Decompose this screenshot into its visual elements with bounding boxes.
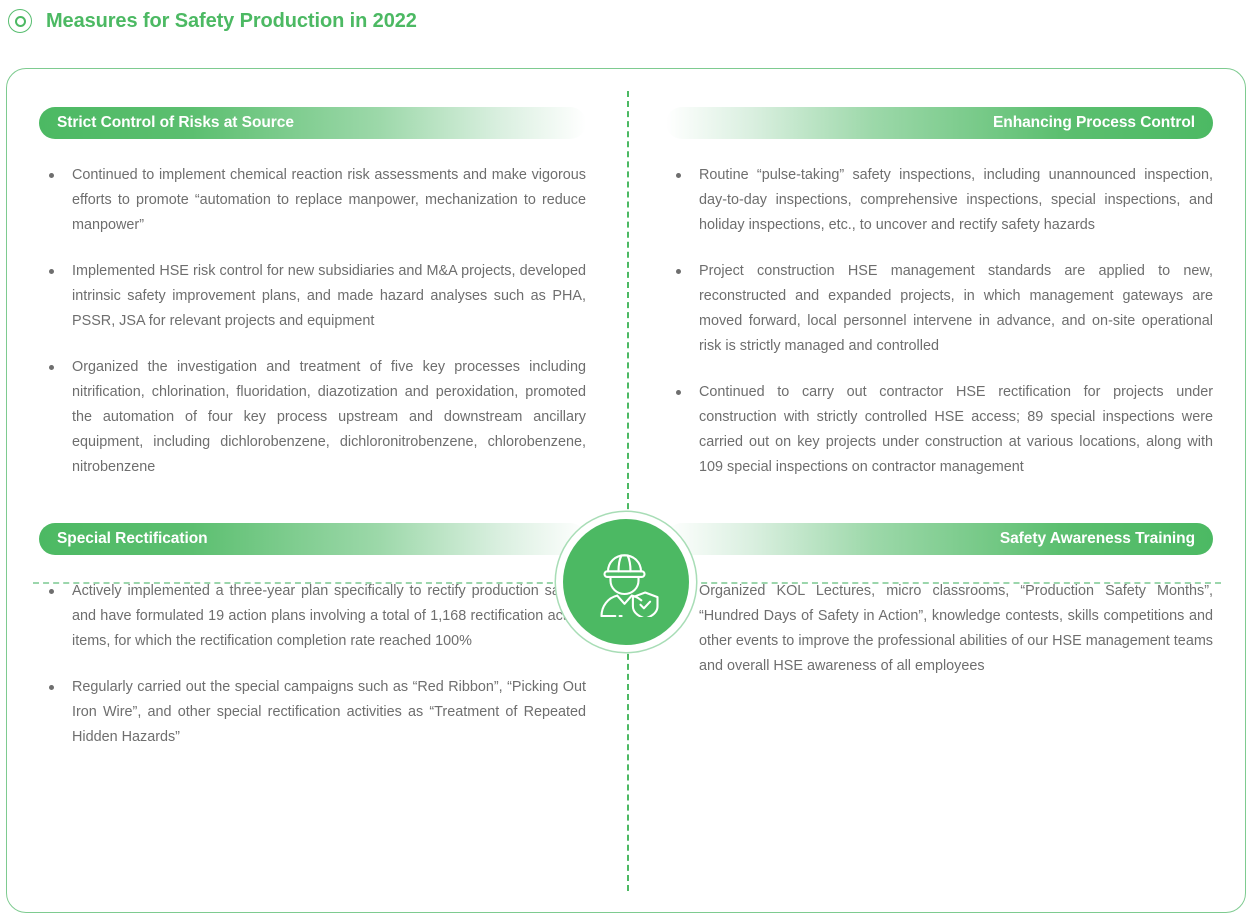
section-special-rectification: Special Rectification Actively implement… [7, 491, 626, 913]
list-item: Actively implemented a three-year plan s… [39, 579, 586, 654]
sections-grid: Strict Control of Risks at Source Contin… [7, 69, 1245, 912]
target-circle-icon [8, 9, 32, 33]
page-title: Measures for Safety Production in 2022 [46, 10, 417, 33]
section-title: Special Rectification [57, 530, 208, 548]
safety-worker-shield-icon [563, 519, 689, 645]
section-bullet-list: Routine “pulse-taking” safety inspection… [666, 163, 1213, 480]
section-header-pill: Strict Control of Risks at Source [39, 107, 586, 139]
list-item: Organized KOL Lectures, micro classrooms… [666, 579, 1213, 679]
section-safety-awareness-training: Safety Awareness Training Organized KOL … [626, 491, 1245, 913]
section-title: Safety Awareness Training [1000, 530, 1195, 548]
list-item: Continued to carry out contractor HSE re… [666, 380, 1213, 480]
list-item: Project construction HSE management stan… [666, 259, 1213, 359]
section-title: Strict Control of Risks at Source [57, 114, 294, 132]
section-bullet-list: Organized KOL Lectures, micro classrooms… [666, 579, 1213, 679]
section-bullet-list: Continued to implement chemical reaction… [39, 163, 586, 480]
list-item: Implemented HSE risk control for new sub… [39, 259, 586, 334]
list-item: Routine “pulse-taking” safety inspection… [666, 163, 1213, 238]
list-item: Regularly carried out the special campai… [39, 675, 586, 750]
list-item: Organized the investigation and treatmen… [39, 355, 586, 480]
section-enhancing-process-control: Enhancing Process Control Routine “pulse… [626, 69, 1245, 491]
section-strict-control-of-risks-at-source: Strict Control of Risks at Source Contin… [7, 69, 626, 491]
section-header-pill: Special Rectification [39, 523, 586, 555]
list-item: Continued to implement chemical reaction… [39, 163, 586, 238]
page-header: Measures for Safety Production in 2022 [0, 0, 1252, 34]
section-title: Enhancing Process Control [993, 114, 1195, 132]
section-bullet-list: Actively implemented a three-year plan s… [39, 579, 586, 750]
section-header-pill: Safety Awareness Training [666, 523, 1213, 555]
measures-board: Strict Control of Risks at Source Contin… [6, 68, 1246, 913]
section-header-pill: Enhancing Process Control [666, 107, 1213, 139]
